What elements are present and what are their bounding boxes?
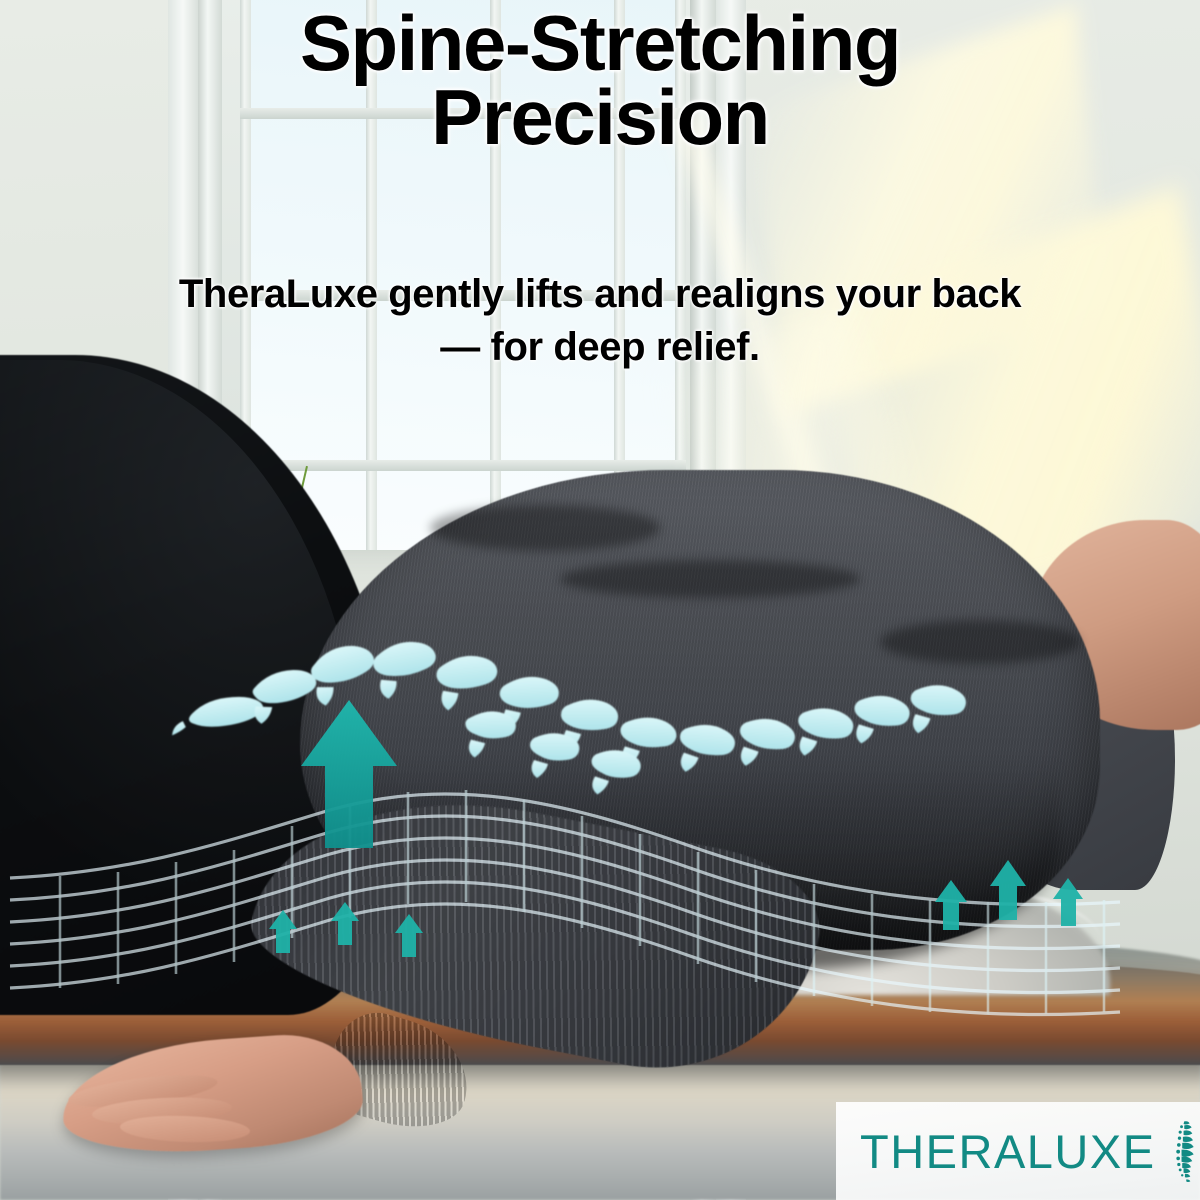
background-photo	[0, 0, 1200, 1200]
headline-line-1: Spine-Stretching	[70, 6, 1130, 80]
spine-icon	[1164, 1105, 1200, 1197]
subheading: TheraLuxe gently lifts and realigns your…	[0, 268, 1200, 374]
brand-logo[interactable]: THERALUXE	[836, 1102, 1200, 1200]
headline: Spine-Stretching Precision	[0, 6, 1200, 154]
brand-name: THERALUXE	[860, 1124, 1156, 1179]
subheading-line-2: — for deep relief.	[12, 321, 1188, 374]
headline-line-2: Precision	[70, 80, 1130, 154]
ad-creative: Spine-Stretching Precision TheraLuxe gen…	[0, 0, 1200, 1200]
subheading-line-1: TheraLuxe gently lifts and realigns your…	[12, 268, 1188, 321]
